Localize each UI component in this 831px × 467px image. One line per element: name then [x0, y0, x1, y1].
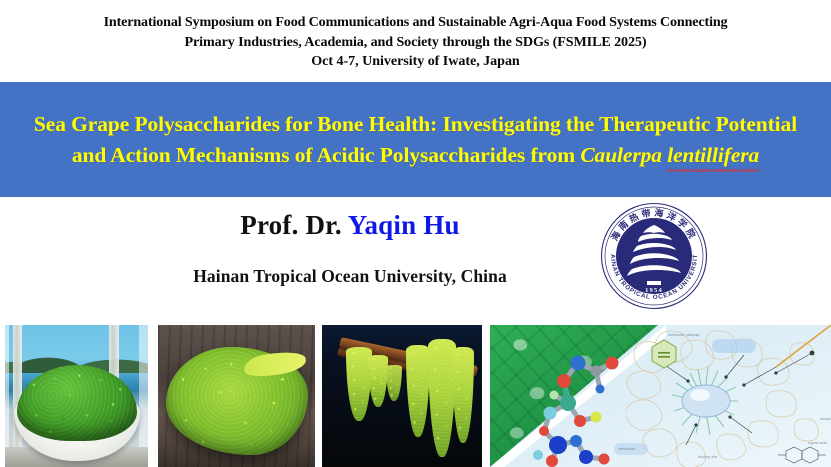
atom-nitrogen — [596, 385, 605, 394]
atom-oxygen — [574, 415, 586, 427]
university-logo: 1954 海南热带海洋学院 HAINAN TROPICAL OCEAN UNIV… — [600, 202, 708, 310]
atom-oxygen — [599, 454, 610, 465]
atom-oxygen — [539, 426, 549, 436]
speaker-name: Prof. Dr. Yaqin Hu — [0, 210, 700, 241]
atom-fluorine — [544, 407, 557, 420]
atom-hydrogen — [550, 391, 559, 400]
atom-chlorine — [591, 412, 602, 423]
atom-nitrogen — [571, 356, 586, 371]
conference-date-venue: Oct 4-7, University of Iwate, Japan — [0, 52, 831, 72]
genus-name: Caulerpa — [580, 143, 667, 167]
network-label-e: metabolite — [618, 447, 636, 451]
presentation-title: Sea Grape Polysaccharides for Bone Healt… — [21, 109, 811, 171]
atom-oxygen — [557, 374, 571, 388]
presentation-title-banner: Sea Grape Polysaccharides for Bone Healt… — [0, 82, 831, 197]
atom-fluorine — [533, 450, 543, 460]
network-label-d: signal node — [808, 441, 828, 445]
callout-pill — [712, 339, 756, 353]
atom-oxygen — [606, 357, 619, 370]
species-epithet: lentillifera — [667, 140, 759, 171]
speaker-title-prefix: Prof. Dr. — [240, 210, 347, 240]
atom-nitrogen — [570, 435, 582, 447]
atom-nitrogen — [579, 450, 593, 464]
speaker-affiliation: Hainan Tropical Ocean University, China — [0, 266, 700, 287]
image-strip: molecular pathway binding site receptor … — [0, 325, 831, 467]
atom-nitrogen — [549, 436, 567, 454]
network-label-c: receptor — [820, 417, 831, 421]
conference-title-line-1: International Symposium on Food Communic… — [0, 13, 831, 33]
atom-carbon — [591, 366, 602, 377]
species-name: Caulerpa lentillifera — [580, 140, 759, 171]
network-label-a: molecular pathway — [668, 333, 700, 337]
figure-molecular-structure-and-network: molecular pathway binding site receptor … — [490, 325, 831, 467]
atom-oxygen — [546, 455, 558, 467]
photo-sea-grape-strands-on-stick — [322, 325, 482, 467]
seal-year: 1954 — [645, 287, 663, 294]
network-label-b: binding site — [698, 455, 718, 459]
photo-sea-grapes-in-bowl-by-window — [5, 325, 148, 467]
atom-sulfur — [560, 395, 576, 411]
university-seal-icon: 1954 海南热带海洋学院 HAINAN TROPICAL OCEAN UNIV… — [600, 202, 708, 310]
conference-title-line-2: Primary Industries, Academia, and Societ… — [0, 33, 831, 53]
photo-sea-grapes-on-wooden-board — [158, 325, 315, 467]
speaker-given-name: Yaqin Hu — [348, 210, 460, 240]
conference-header: International Symposium on Food Communic… — [0, 0, 831, 72]
